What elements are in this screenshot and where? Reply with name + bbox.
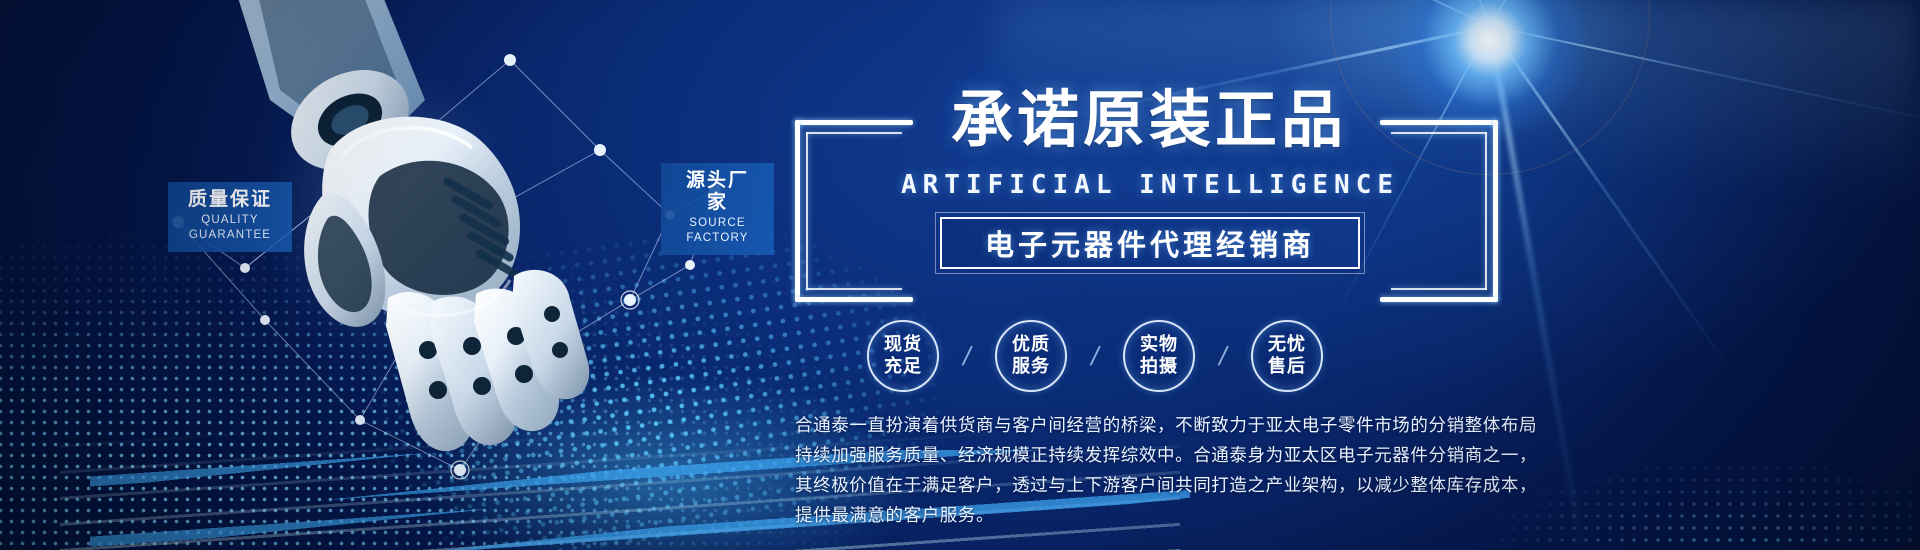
promo-banner: 质量保证 QUALITY GUARANTEE 源头厂家 SOURCE FACTO… (0, 0, 1920, 550)
vignette-overlay (0, 0, 1920, 550)
